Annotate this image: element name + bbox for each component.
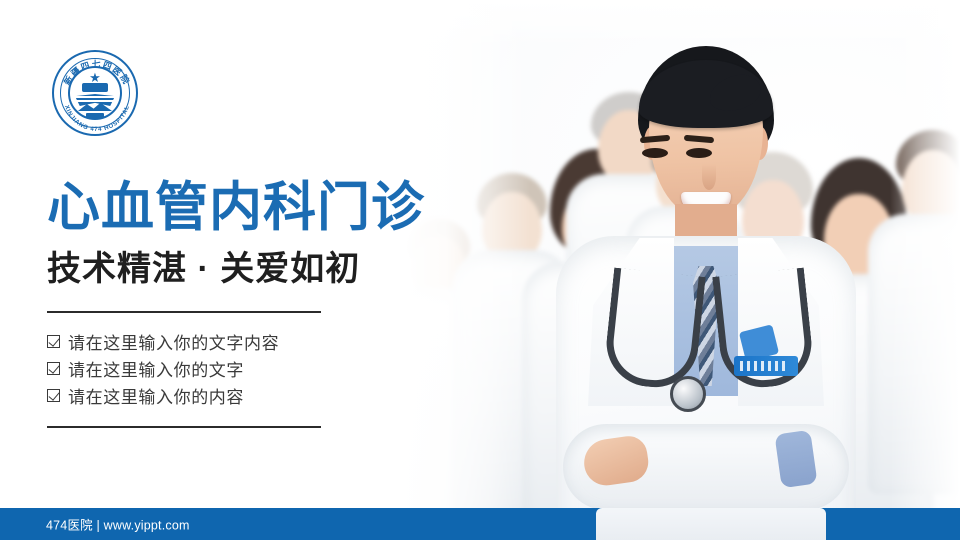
doctor-eye	[642, 148, 668, 158]
logo-year-plate	[86, 113, 104, 118]
checkbox-checked-icon[interactable]	[47, 362, 60, 375]
page-subtitle: 技术精湛 · 关爱如初	[47, 252, 360, 286]
doctor-coat-overlap	[596, 508, 826, 540]
foreground-doctor	[556, 40, 856, 540]
logo-name-plate	[82, 83, 108, 92]
list-item: 请在这里输入你的内容	[47, 382, 279, 409]
checkbox-checked-icon[interactable]	[47, 335, 60, 348]
doctor-id-badge	[734, 356, 798, 376]
list-item-label: 请在这里输入你的内容	[68, 383, 244, 408]
doctor-nose	[702, 164, 716, 190]
list-item-label: 请在这里输入你的文字内容	[68, 329, 279, 354]
stethoscope-chestpiece	[670, 376, 706, 412]
photo-right-fade	[890, 0, 960, 512]
bullet-list: 请在这里输入你的文字内容 请在这里输入你的文字 请在这里输入你的内容	[47, 328, 279, 409]
doctor-eye	[686, 148, 712, 158]
list-item: 请在这里输入你的文字	[47, 355, 279, 382]
page-title: 心血管内科门诊	[47, 181, 425, 234]
footer-label: 474医院 | www.yippt.com	[46, 515, 190, 534]
divider-bottom	[47, 426, 321, 428]
shirt-cuff	[774, 430, 817, 488]
slide-canvas: 新疆四七四医院 XINJIANG 474 HOSPITAL ★ 心血管内科门诊 …	[0, 0, 960, 540]
list-item-label: 请在这里输入你的文字	[68, 356, 244, 381]
divider-top	[47, 311, 321, 313]
hospital-logo: 新疆四七四医院 XINJIANG 474 HOSPITAL ★	[52, 50, 138, 136]
checkbox-checked-icon[interactable]	[47, 389, 60, 402]
list-item: 请在这里输入你的文字内容	[47, 328, 279, 355]
